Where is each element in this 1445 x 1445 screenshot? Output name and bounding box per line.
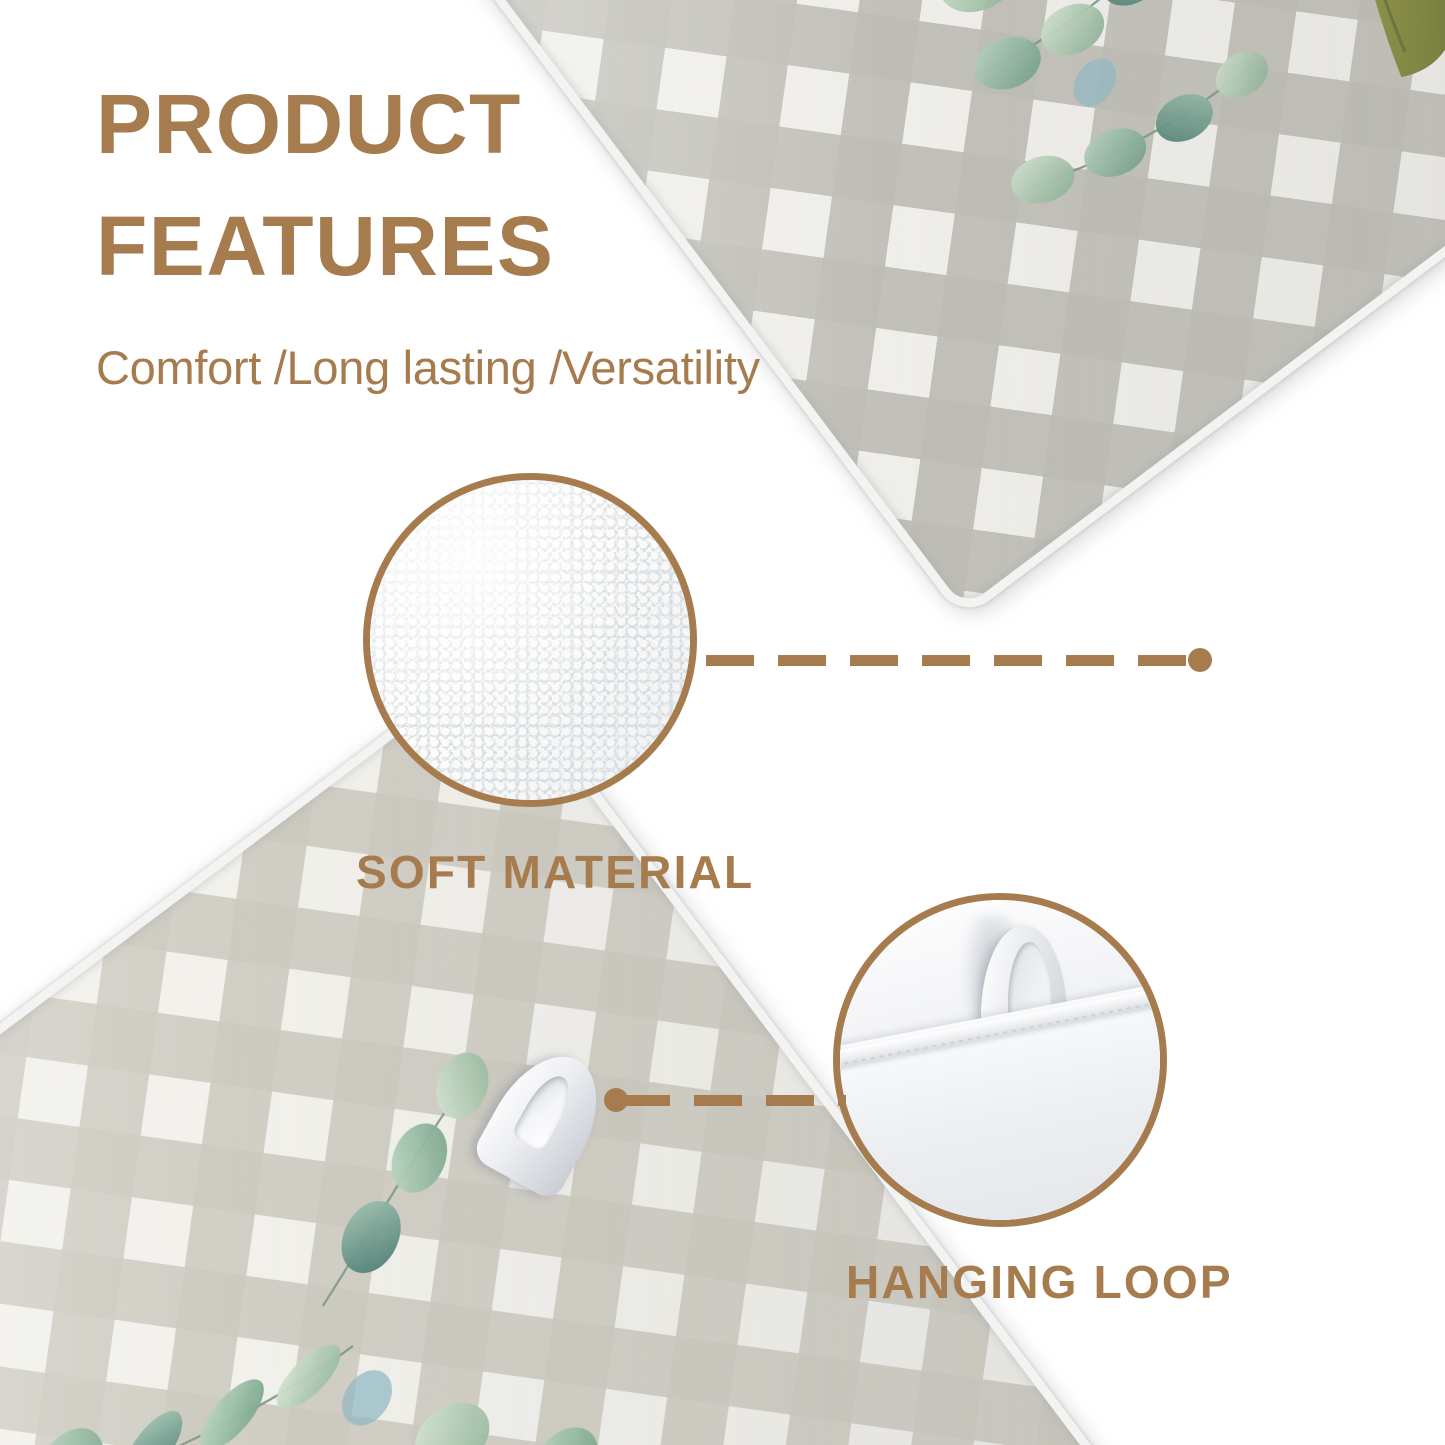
- hanging-loop-caption: HANGING LOOP: [846, 1255, 1233, 1309]
- infographic-canvas: PRODUCT FEATURES Comfort /Long lasting /…: [0, 0, 1445, 1445]
- soft-material-caption: SOFT MATERIAL: [356, 845, 754, 899]
- dashed-line-icon: [622, 1095, 846, 1106]
- heading-block: PRODUCT FEATURES Comfort /Long lasting /…: [96, 82, 856, 395]
- dashed-line-icon: [706, 655, 1194, 666]
- page-title-line-1: PRODUCT: [96, 82, 856, 166]
- hanging-loop-icon: [840, 900, 1160, 1220]
- connector-dot-icon: [1188, 648, 1212, 672]
- page-title-line-2: FEATURES: [96, 204, 856, 288]
- hanging-loop-circle: [833, 893, 1167, 1227]
- fabric-texture-icon: [370, 480, 690, 800]
- page-subtitle: Comfort /Long lasting /Versatility: [96, 340, 856, 395]
- soft-material-circle: [363, 473, 697, 807]
- soft-material-connector: [706, 652, 1212, 668]
- hanging-loop-connector: [604, 1092, 846, 1108]
